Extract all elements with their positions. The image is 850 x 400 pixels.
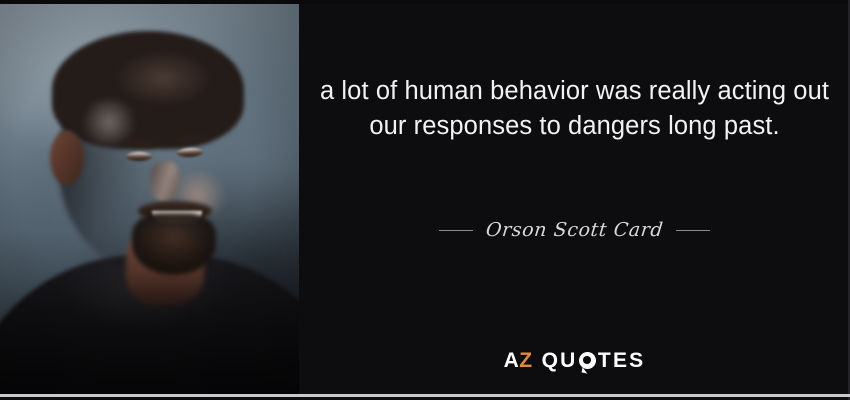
author-portrait [0,3,299,394]
portrait-backdrop [0,3,299,394]
bottom-divider [0,394,850,397]
logo-quotes-wordmark: QUTES [542,350,646,371]
azquotes-logo[interactable]: AZ QUTES [317,350,832,371]
logo-quotes-prefix: QU [542,350,578,371]
portrait-vignette [0,3,299,394]
logo-letter-z: Z [519,349,532,372]
speech-bubble-icon [579,352,596,369]
quote-content-panel: a lot of human behavior was really actin… [299,0,850,400]
attribution: Orson Scott Card [317,219,832,241]
top-divider [0,0,850,4]
author-name[interactable]: Orson Scott Card [485,219,665,241]
quote-card: a lot of human behavior was really actin… [0,0,850,400]
attribution-rule-left [439,230,473,231]
logo-quotes-suffix: TES [598,350,645,371]
logo-az-mark: AZ [504,350,533,371]
logo-letter-a: A [504,349,520,372]
quote-text: a lot of human behavior was really actin… [317,74,832,144]
attribution-rule-right [676,230,710,231]
